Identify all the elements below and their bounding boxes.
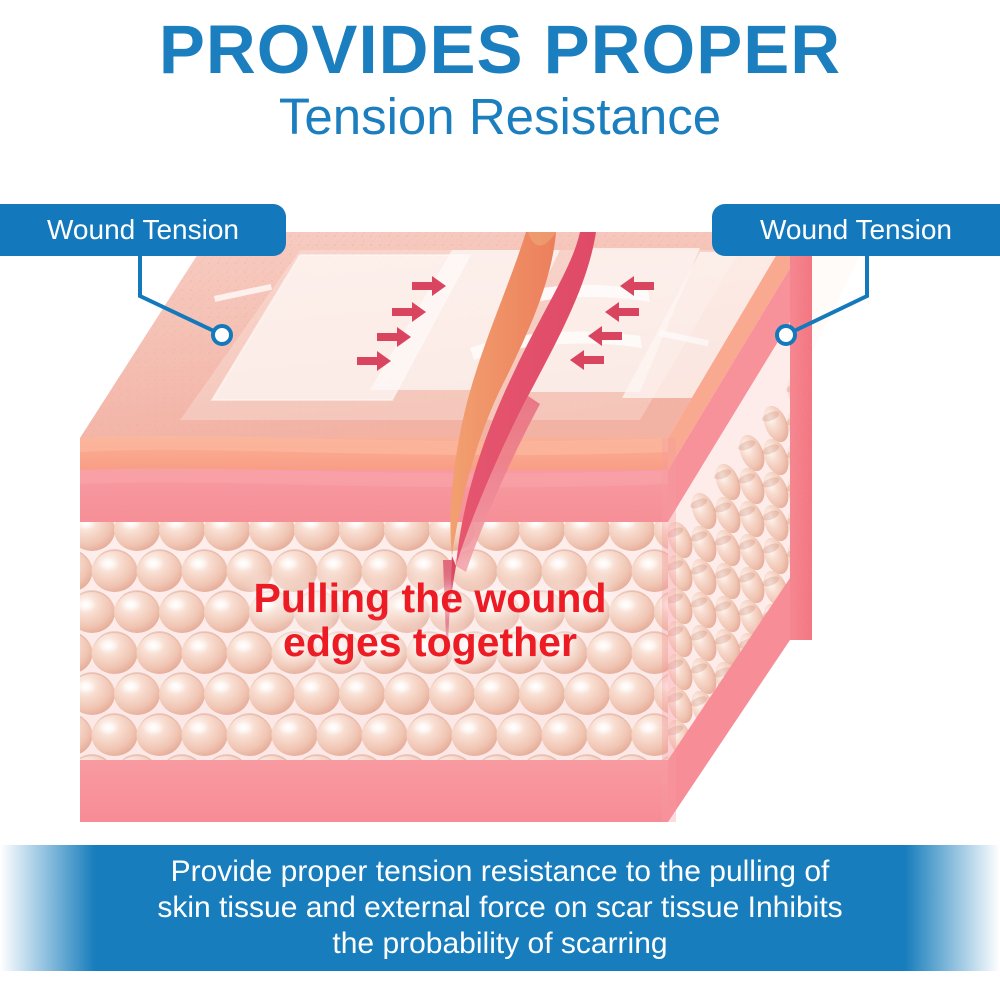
pulling-wound-overlay-text: Pulling the wound edges together [150, 576, 710, 664]
callout-right-label: Wound Tension [760, 216, 952, 244]
footer-line-2: skin tissue and external force on scar t… [157, 890, 842, 926]
pulling-text-line-1: Pulling the wound [150, 576, 710, 620]
base-layer [80, 760, 668, 822]
footer-banner: Provide proper tension resistance to the… [0, 845, 1000, 971]
callout-wound-tension-right[interactable]: Wound Tension [712, 204, 1000, 256]
pulling-text-line-2: edges together [150, 620, 710, 664]
footer-line-1: Provide proper tension resistance to the… [157, 854, 842, 890]
callout-left-label: Wound Tension [47, 216, 239, 244]
leader-marker-right [777, 326, 795, 344]
leader-marker-left [213, 326, 231, 344]
callout-wound-tension-left[interactable]: Wound Tension [0, 204, 286, 256]
footer-caption: Provide proper tension resistance to the… [97, 854, 902, 962]
dermis-layer [80, 469, 668, 522]
epidermis-layer [80, 436, 668, 470]
infographic-canvas: PROVIDES PROPER Tension Resistance [0, 0, 1000, 1000]
footer-line-3: the probability of scarring [157, 926, 842, 962]
